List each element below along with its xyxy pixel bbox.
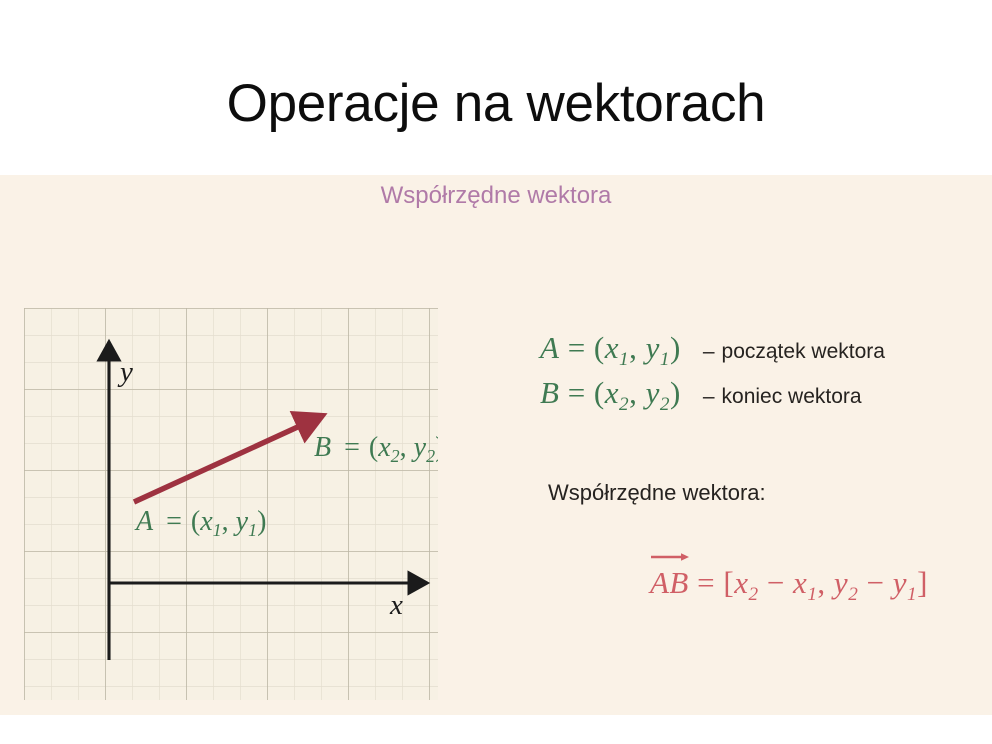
definition-row-b: B = (x2, y2) – koniec wektora — [540, 375, 980, 416]
coordinates-heading: Współrzędne wektora: — [548, 480, 766, 506]
definition-text-a: początek wektora — [722, 340, 885, 364]
coordinate-graph-svg: y x A = (x1, y1) B = (x2, y2) — [24, 308, 438, 700]
section-subtitle: Współrzędne wektora — [0, 182, 992, 210]
definition-text-b: koniec wektora — [722, 385, 862, 409]
vector-coordinates-formula: AB = [x2 − x1, y2 − y1] — [650, 563, 928, 606]
definition-dash-a: – — [703, 340, 715, 364]
point-b-equation: B = (x2, y2) — [540, 375, 681, 416]
bottom-band — [0, 715, 992, 744]
y-axis-label: y — [117, 356, 133, 388]
graph-grid — [24, 308, 438, 700]
vector-ab-name: AB — [650, 563, 689, 601]
coordinate-graph-figure: y x A = (x1, y1) B = (x2, y2) — [24, 308, 438, 700]
point-a-equation: A = (x1, y1) — [540, 330, 681, 371]
title-band: Operacje na wektorach — [0, 0, 992, 175]
definition-row-a: A = (x1, y1) – początek wektora — [540, 330, 980, 371]
definitions-block: A = (x1, y1) – początek wektora B = (x2,… — [540, 330, 980, 420]
slide-canvas: Operacje na wektorach Współrzędne wektor… — [0, 0, 992, 744]
x-axis-label: x — [389, 589, 403, 621]
definition-dash-b: – — [703, 385, 715, 409]
page-title: Operacje na wektorach — [0, 76, 992, 132]
